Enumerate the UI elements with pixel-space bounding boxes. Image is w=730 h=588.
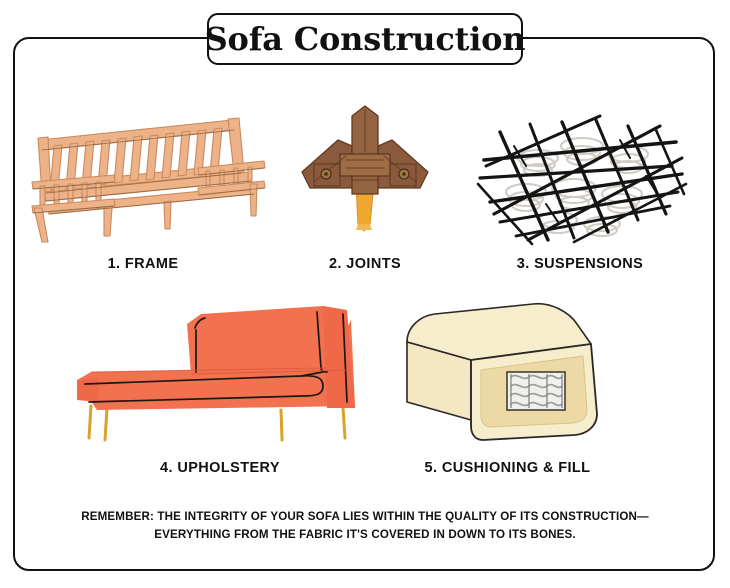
caption-suspensions: 3. SUSPENSIONS: [470, 256, 690, 272]
footer-line-2: EVERYTHING FROM THE FABRIC IT'S COVERED …: [154, 528, 576, 541]
item-joints: 2. JOINTS: [290, 96, 440, 281]
caption-joints: 2. JOINTS: [290, 256, 440, 272]
sofa-frame-illustration: [18, 96, 268, 246]
title-box: Sofa Construction: [207, 13, 523, 65]
webbing-springs-illustration: [470, 96, 690, 246]
footer-note: REMEMBER: THE INTEGRITY OF YOUR SOFA LIE…: [50, 508, 680, 544]
item-frame: 1. FRAME: [18, 96, 268, 281]
page-title: Sofa Construction: [205, 23, 526, 55]
upholstered-sofa-illustration: [55, 298, 385, 453]
caption-upholstery: 4. UPHOLSTERY: [55, 460, 385, 476]
item-suspensions: 3. SUSPENSIONS: [470, 96, 690, 281]
footer-lead: REMEMBER:: [81, 510, 154, 523]
item-upholstery: 4. UPHOLSTERY: [55, 298, 385, 488]
footer-line-1: THE INTEGRITY OF YOUR SOFA LIES WITHIN T…: [154, 510, 649, 523]
caption-cushioning: 5. CUSHIONING & FILL: [385, 460, 630, 476]
cushion-cutaway-illustration: [385, 298, 630, 453]
wood-joint-illustration: [290, 96, 440, 246]
infographic-page: Sofa Construction: [0, 0, 730, 588]
item-cushioning: 5. CUSHIONING & FILL: [385, 298, 630, 488]
caption-frame: 1. FRAME: [18, 256, 268, 272]
